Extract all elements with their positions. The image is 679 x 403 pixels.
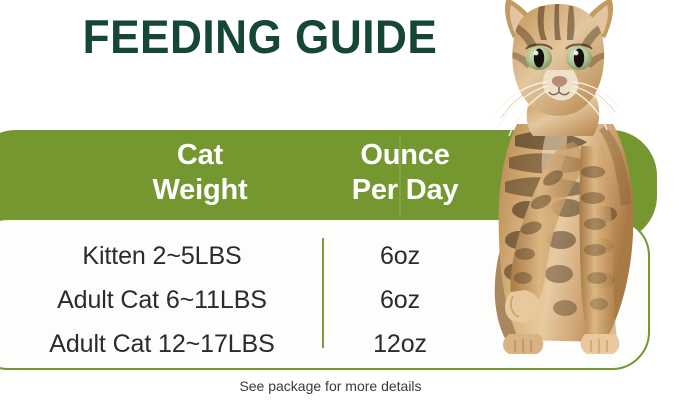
table-row: Adult Cat 6~11LBS 6oz (0, 278, 652, 322)
cell-ounce-per-day: 6oz (324, 234, 476, 278)
cell-cat-weight: Adult Cat 6~11LBS (2, 278, 322, 322)
column-header-ounce-per-day: Ounce Per Day (320, 138, 490, 208)
page-title: FEEDING GUIDE (16, 8, 505, 66)
cell-ounce-per-day: 12oz (324, 322, 476, 366)
footnote-text: See package for more details (0, 377, 661, 395)
feeding-guide-infographic: FEEDING GUIDE Cat Weight Ounce Per Day K… (0, 0, 679, 403)
table-row: Adult Cat 12~17LBS 12oz (0, 322, 652, 366)
table-row: Kitten 2~5LBS 6oz (0, 234, 652, 278)
column-header-cat-weight: Cat Weight (80, 138, 320, 208)
cell-cat-weight: Kitten 2~5LBS (2, 234, 322, 278)
cell-ounce-per-day: 6oz (324, 278, 476, 322)
feeding-table-card: Kitten 2~5LBS 6oz Adult Cat 6~11LBS 6oz … (0, 218, 650, 370)
cell-cat-weight: Adult Cat 12~17LBS (2, 322, 322, 366)
